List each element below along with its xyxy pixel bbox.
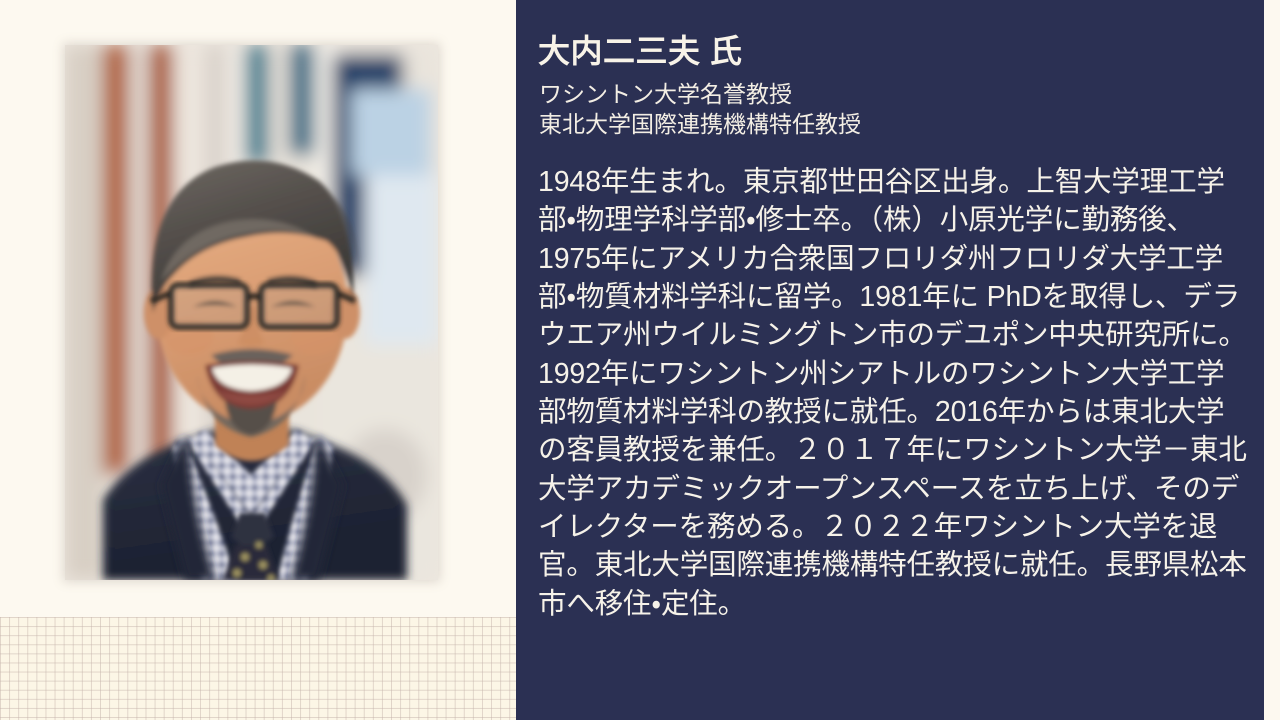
- portrait-photo: [65, 45, 438, 580]
- left-panel: [0, 0, 516, 720]
- affiliation-list: ワシントン大学名誉教授 東北大学国際連携機構特任教授: [539, 79, 861, 140]
- profile-slide: 大内二三夫 氏 ワシントン大学名誉教授 東北大学国際連携機構特任教授 1948年…: [0, 0, 1280, 720]
- biography: 1948年生まれ。東京都世田谷区出身。上智大学理工学部・物理学科学部・修士卒。（…: [538, 163, 1250, 623]
- graph-paper-texture: [0, 617, 516, 720]
- person-name: 大内二三夫 氏: [538, 34, 742, 70]
- biography-paragraph-1: 1948年生まれ。東京都世田谷区出身。上智大学理工学部・物理学科学部・修士卒。（…: [538, 163, 1250, 355]
- affiliation-line-2: 東北大学国際連携機構特任教授: [539, 109, 861, 139]
- right-edge-strip: [1264, 0, 1280, 720]
- affiliation-line-1: ワシントン大学名誉教授: [539, 79, 861, 109]
- biography-paragraph-2: 1992年にワシントン州シアトルのワシントン大学工学部物質材料学科の教授に就任。…: [538, 355, 1250, 623]
- portrait-photo-graphic: [65, 45, 438, 580]
- right-panel: 大内二三夫 氏 ワシントン大学名誉教授 東北大学国際連携機構特任教授 1948年…: [516, 0, 1264, 720]
- text-block: 大内二三夫 氏 ワシントン大学名誉教授 東北大学国際連携機構特任教授 1948年…: [538, 0, 1254, 720]
